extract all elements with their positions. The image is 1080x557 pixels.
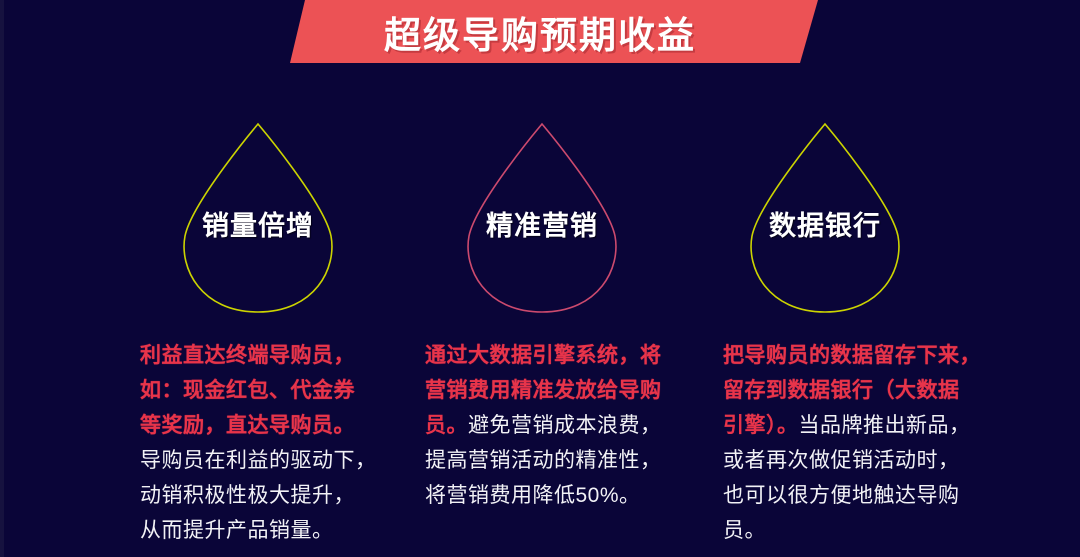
text-segment-plain: 避免营销成本浪费，	[468, 414, 662, 437]
text-line: 员。	[723, 513, 963, 548]
droplet-sales-growth: 销量倍增	[173, 118, 343, 318]
text-line: 通过大数据引擎系统，将	[425, 338, 665, 373]
text-line: 利益直达终端导购员，	[140, 338, 380, 373]
droplet-precision-marketing: 精准营销	[457, 118, 627, 318]
infographic-canvas: 超级导购预期收益 销量倍增 精准营销 数据银行 利益直达终端导购员， 如：现金红…	[0, 0, 1080, 557]
text-line: 导购员在利益的驱动下，	[140, 443, 380, 478]
text-line: 将营销费用降低50%。	[425, 478, 665, 513]
text-line: 把导购员的数据留存下来，	[723, 338, 963, 373]
title-banner: 超级导购预期收益	[0, 0, 1080, 63]
text-segment-accent: 员。	[425, 414, 468, 437]
text-line: 提高营销活动的精准性，	[425, 443, 665, 478]
text-line: 留存到数据银行（大数据	[723, 373, 963, 408]
droplet-label: 销量倍增	[173, 204, 343, 243]
text-column-sales-growth: 利益直达终端导购员， 如：现金红包、代金券 等奖励，直达导购员。 导购员在利益的…	[140, 338, 380, 548]
droplet-data-bank: 数据银行	[740, 118, 910, 318]
text-line: 动销积极性极大提升，	[140, 478, 380, 513]
text-column-precision-marketing: 通过大数据引擎系统，将 营销费用精准发放给导购 员。避免营销成本浪费， 提高营销…	[425, 338, 665, 513]
text-line-mixed: 引擎）。当品牌推出新品，	[723, 408, 963, 443]
text-line: 或者再次做促销活动时，	[723, 443, 963, 478]
text-column-data-bank: 把导购员的数据留存下来， 留存到数据银行（大数据 引擎）。当品牌推出新品， 或者…	[723, 338, 963, 548]
text-segment-accent: 引擎）。	[723, 414, 799, 437]
text-line: 如：现金红包、代金券	[140, 373, 380, 408]
text-line: 也可以很方便地触达导购	[723, 478, 963, 513]
text-segment-plain: 当品牌推出新品，	[799, 414, 971, 437]
page-title: 超级导购预期收益	[0, 0, 1080, 63]
text-line: 等奖励，直达导购员。	[140, 408, 380, 443]
droplet-label: 数据银行	[740, 204, 910, 243]
text-line-mixed: 员。避免营销成本浪费，	[425, 408, 665, 443]
text-line: 营销费用精准发放给导购	[425, 373, 665, 408]
text-line: 从而提升产品销量。	[140, 513, 380, 548]
left-edge-strip	[0, 0, 4, 557]
droplet-label: 精准营销	[457, 204, 627, 243]
